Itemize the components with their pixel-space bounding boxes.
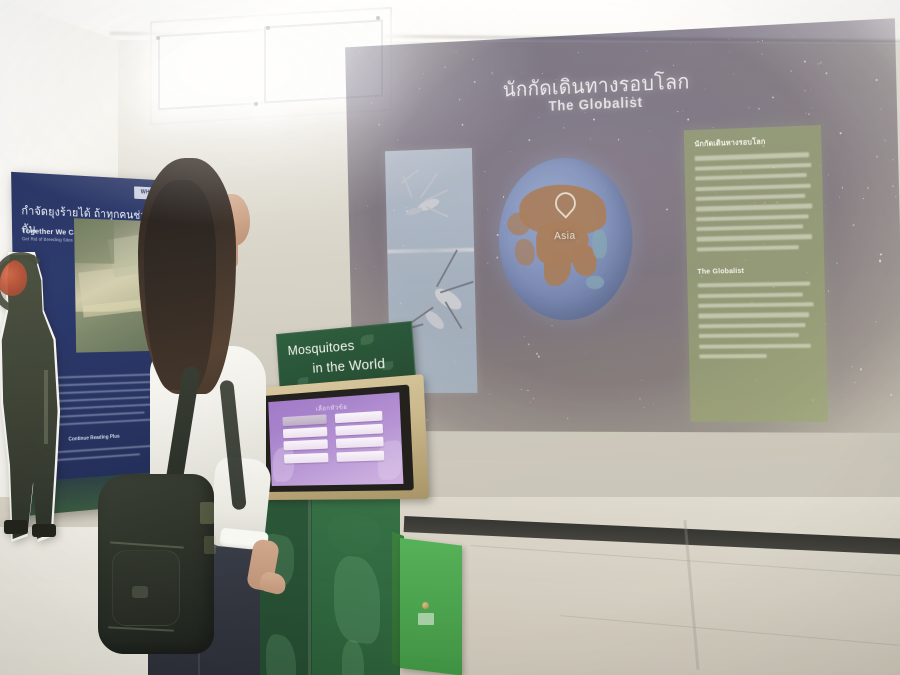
star xyxy=(748,107,749,108)
visitor-person xyxy=(104,158,280,675)
star xyxy=(567,418,568,419)
screen-menu-button[interactable] xyxy=(283,440,328,451)
body-text-line xyxy=(695,163,811,171)
body-text-line xyxy=(696,214,809,221)
screen-menu-button[interactable] xyxy=(335,424,383,436)
kiosk-map-north-america xyxy=(334,554,380,645)
star xyxy=(690,44,691,45)
star xyxy=(649,131,650,132)
star xyxy=(536,353,538,355)
star xyxy=(510,151,511,152)
landmass-india xyxy=(544,253,572,286)
screen-menu-button[interactable] xyxy=(282,414,326,426)
star xyxy=(497,257,499,259)
star xyxy=(840,133,842,135)
star xyxy=(472,59,474,61)
star xyxy=(687,118,689,120)
star xyxy=(839,197,840,198)
star xyxy=(578,52,579,53)
star xyxy=(644,407,645,408)
star xyxy=(584,66,585,67)
kiosk-body-front-face xyxy=(312,480,400,675)
body-text-line xyxy=(697,235,812,242)
star xyxy=(358,52,359,53)
star xyxy=(673,65,674,66)
backpack-trim xyxy=(204,536,216,554)
star xyxy=(876,156,878,158)
kiosk-sign-text-line2: in the World xyxy=(312,356,386,376)
star xyxy=(593,119,595,121)
body-text-line xyxy=(699,354,766,359)
star xyxy=(641,380,642,381)
body-text-line xyxy=(698,292,803,298)
kiosk-touchscreen[interactable]: เลือกหัวข้อ xyxy=(268,392,403,486)
star xyxy=(817,63,819,65)
star xyxy=(374,266,375,267)
screen-menu-button[interactable] xyxy=(284,452,329,463)
star xyxy=(521,389,522,390)
star xyxy=(853,225,855,227)
green-cabinet[interactable] xyxy=(400,538,462,675)
star xyxy=(538,356,540,358)
window-fastener xyxy=(156,36,160,40)
standee-sleeve-stripe xyxy=(44,370,48,444)
window-left xyxy=(158,29,266,110)
star xyxy=(487,262,488,263)
body-text-line xyxy=(699,343,811,348)
screen-button-column-right xyxy=(335,407,404,465)
star xyxy=(860,368,862,370)
star xyxy=(522,379,523,380)
star xyxy=(503,196,504,197)
star xyxy=(585,353,587,355)
star xyxy=(836,262,838,264)
star xyxy=(462,124,464,126)
star xyxy=(488,209,489,210)
star xyxy=(551,325,552,326)
info-heading-thai: นักกัดเดินทางรอบโลก xyxy=(694,135,810,149)
star xyxy=(524,336,525,337)
screen-menu-button[interactable] xyxy=(336,437,384,449)
standee-hood xyxy=(0,252,49,312)
star xyxy=(805,113,806,115)
leaf-icon xyxy=(360,334,374,345)
screen-menu-button[interactable] xyxy=(283,427,328,439)
star xyxy=(824,205,825,206)
star xyxy=(647,51,648,52)
star xyxy=(820,61,822,63)
star xyxy=(804,60,806,62)
visitor-hair-highlight xyxy=(144,180,216,390)
star xyxy=(639,398,640,399)
star xyxy=(880,254,882,256)
interactive-kiosk[interactable]: Mosquitoes in the World เลือกหัวข้อ xyxy=(256,330,476,675)
star xyxy=(533,398,535,400)
mosquito-leg xyxy=(426,206,449,217)
star xyxy=(890,394,892,396)
body-text-line xyxy=(695,173,807,181)
body-text-line xyxy=(698,302,813,308)
star xyxy=(884,140,886,142)
star xyxy=(790,70,791,71)
water-line xyxy=(387,248,474,254)
star xyxy=(419,88,420,89)
mosquito-abdomen xyxy=(405,206,423,217)
screen-menu-button[interactable] xyxy=(335,411,383,423)
star xyxy=(677,111,678,113)
star xyxy=(367,206,368,207)
star xyxy=(530,402,531,403)
star xyxy=(489,393,490,394)
cardboard-standee xyxy=(0,252,66,542)
body-text-line xyxy=(699,323,806,328)
standee-boot xyxy=(32,524,56,537)
star xyxy=(892,185,894,187)
star xyxy=(728,38,730,40)
landmass-indonesia xyxy=(586,276,605,290)
star xyxy=(666,209,668,211)
screen-menu-button[interactable] xyxy=(336,450,384,461)
star xyxy=(528,343,530,345)
star xyxy=(527,390,528,391)
star xyxy=(851,366,853,368)
body-text-line xyxy=(699,333,799,338)
backpack-trim xyxy=(200,502,214,524)
star xyxy=(423,73,425,75)
star xyxy=(444,66,445,68)
star xyxy=(729,51,730,52)
star xyxy=(842,187,843,188)
star xyxy=(456,51,457,52)
star xyxy=(833,40,834,41)
star xyxy=(863,198,864,199)
star xyxy=(757,41,758,42)
star xyxy=(589,138,591,140)
star xyxy=(855,383,856,384)
star xyxy=(378,124,379,125)
body-text-line xyxy=(695,183,810,191)
kiosk-body-edge-highlight xyxy=(308,480,311,675)
body-text-line xyxy=(698,313,809,318)
star xyxy=(826,72,828,74)
standee-boot xyxy=(4,520,28,534)
body-text-line xyxy=(696,225,803,232)
cabinet-lock-icon[interactable] xyxy=(422,602,429,609)
star xyxy=(812,107,813,108)
body-text-line xyxy=(698,282,811,288)
star xyxy=(893,159,894,160)
star xyxy=(808,114,809,115)
window-fastener xyxy=(376,16,380,20)
body-text-line xyxy=(696,204,812,211)
slide-info-panel: นักกัดเดินทางรอบโลก The Globalist xyxy=(684,125,828,422)
body-text-line xyxy=(697,245,799,251)
star xyxy=(355,268,356,269)
body-text-line xyxy=(695,153,809,161)
star xyxy=(875,321,876,322)
star xyxy=(397,139,398,140)
star xyxy=(828,291,829,292)
kiosk-map-south-america xyxy=(342,639,364,675)
cabinet-label-sticker xyxy=(418,613,434,625)
star xyxy=(895,196,896,197)
star xyxy=(810,89,811,90)
body-text-line xyxy=(696,194,805,201)
mosquito-leg xyxy=(440,281,474,293)
star xyxy=(880,108,882,110)
window-fastener xyxy=(254,102,258,106)
star xyxy=(876,79,878,81)
star xyxy=(538,117,539,118)
star xyxy=(491,72,493,74)
globe-region-label: Asia xyxy=(498,229,632,244)
kiosk-map-continent xyxy=(328,512,380,557)
star xyxy=(772,96,774,98)
star xyxy=(406,54,407,55)
star xyxy=(879,260,881,262)
star xyxy=(804,90,805,91)
window-fastener xyxy=(266,26,270,30)
star xyxy=(484,171,485,172)
exhibit-room-photo: นักกัดเดินทางรอบโลก The Globalist xyxy=(0,0,900,675)
star xyxy=(867,187,869,189)
star xyxy=(653,403,654,404)
star xyxy=(758,108,760,110)
star xyxy=(529,139,531,141)
star xyxy=(682,111,683,112)
backpack-logo xyxy=(132,586,148,598)
kiosk-sign-text-line1: Mosquitoes xyxy=(287,338,355,358)
star xyxy=(828,174,829,175)
star xyxy=(618,139,619,140)
info-heading-english: The Globalist xyxy=(697,265,814,276)
mosquito-leg xyxy=(436,249,458,287)
